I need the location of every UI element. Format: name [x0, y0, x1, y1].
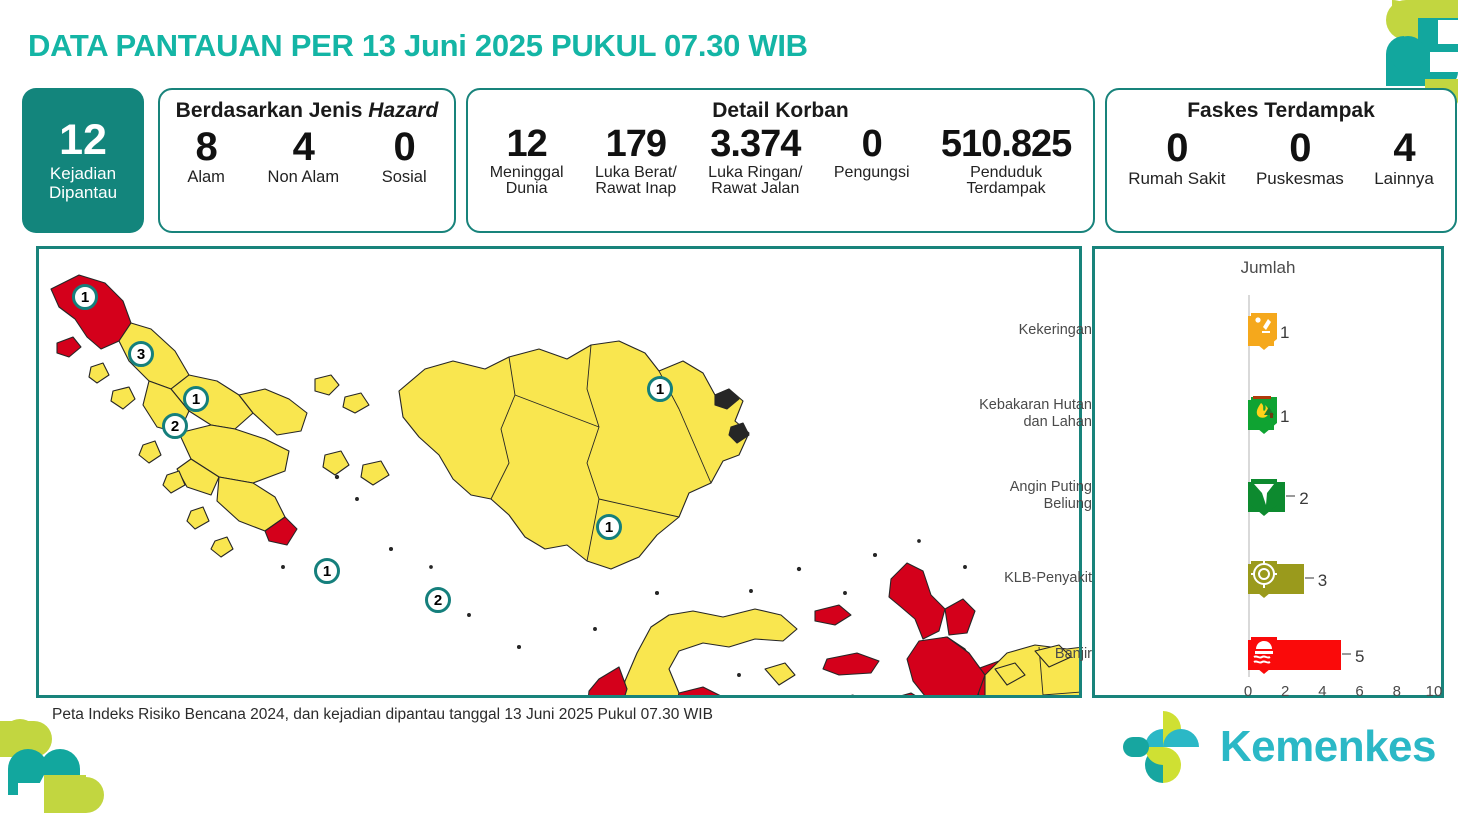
chart-value-label: 3 [1318, 572, 1327, 589]
chart-plot-area: Kekeringan1Kebakaran Hutan dan Lahan1Ang… [1095, 285, 1441, 695]
chart-category-label: KLB-Penyakit [792, 570, 1092, 587]
decoration-bottom-left [0, 713, 130, 813]
chart-category-label: Kekeringan [792, 322, 1092, 339]
indonesia-risk-map-panel[interactable]: 13121211 [36, 246, 1082, 698]
kejadian-dipantau-card: 12 Kejadian Dipantau [22, 88, 144, 233]
korban-metric-value: 0 [834, 125, 910, 164]
hazard-metrics: 8Alam4Non Alam0Sosial [160, 127, 454, 186]
chart-value-label: 5 [1355, 648, 1364, 665]
faskes-metric-label: Puskesmas [1256, 170, 1344, 187]
map-caption: Peta Indeks Risiko Bencana 2024, dan kej… [52, 706, 713, 724]
chart-category-label: Angin Puting Beliung [792, 479, 1092, 513]
disease-outbreak-icon [1249, 560, 1279, 598]
chart-category-label: Banjir [792, 646, 1092, 663]
map-marker[interactable]: 1 [72, 284, 98, 310]
kemenkes-wordmark: Kemenkes [1220, 722, 1436, 772]
chart-x-tick-label: 0 [1244, 683, 1252, 700]
faskes-metric-label: Lainnya [1374, 170, 1434, 187]
faskes-terdampak-card: Faskes Terdampak 0Rumah Sakit0Puskesmas4… [1105, 88, 1457, 233]
map-marker[interactable]: 1 [596, 514, 622, 540]
hazard-metric-label: Non Alam [268, 169, 340, 186]
chart-value-label: 2 [1299, 490, 1308, 507]
hazard-metric-value: 0 [382, 127, 427, 168]
korban-metrics: 12Meninggal Dunia179Luka Berat/ Rawat In… [468, 125, 1093, 197]
chart-bar-row: Banjir5 [1248, 633, 1438, 677]
hazard-metric: 8Alam [187, 127, 225, 186]
hazard-metric: 4Non Alam [268, 127, 340, 186]
indonesia-map [39, 249, 1079, 695]
hazard-type-card: Berdasarkan Jenis Hazard 8Alam4Non Alam0… [158, 88, 456, 233]
chart-x-tick-label: 8 [1393, 683, 1401, 700]
kejadian-label-line2: Dipantau [49, 183, 117, 202]
chart-value-tick [1305, 577, 1314, 579]
map-marker-count: 1 [314, 558, 340, 584]
faskes-card-title: Faskes Terdampak [1107, 99, 1455, 122]
faskes-metric: 0Puskesmas [1256, 128, 1344, 187]
korban-metric-value: 179 [595, 125, 677, 164]
kejadian-label-line1: Kejadian [50, 164, 116, 183]
hazard-metric-value: 4 [268, 127, 340, 168]
korban-metric-label: Luka Berat/ Rawat Inap [595, 165, 677, 198]
chart-bar-row: Angin Puting Beliung2 [1248, 475, 1438, 519]
hazard-metric-label: Sosial [382, 169, 427, 186]
map-marker-count: 3 [128, 341, 154, 367]
faskes-metric-value: 0 [1256, 128, 1344, 169]
map-marker[interactable]: 1 [183, 386, 209, 412]
korban-metric: 3.374Luka Ringan/ Rawat Jalan [708, 125, 802, 197]
map-marker-count: 2 [425, 587, 451, 613]
korban-metric-value: 12 [490, 125, 564, 164]
hazard-card-title: Berdasarkan Jenis Hazard [160, 99, 454, 122]
faskes-metric: 0Rumah Sakit [1128, 128, 1225, 187]
chart-value-tick [1286, 495, 1295, 497]
faskes-metric-value: 0 [1128, 128, 1225, 169]
faskes-metric-label: Rumah Sakit [1128, 170, 1225, 187]
korban-metric-value: 510.825 [941, 125, 1071, 164]
map-marker-count: 1 [183, 386, 209, 412]
map-marker-count: 2 [162, 413, 188, 439]
korban-metric: 510.825Penduduk Terdampak [941, 125, 1071, 197]
chart-value-label: 1 [1280, 408, 1289, 425]
chart-bar-row: KLB-Penyakit3 [1248, 557, 1438, 601]
map-marker-count: 1 [596, 514, 622, 540]
korban-metric-label: Luka Ringan/ Rawat Jalan [708, 165, 802, 198]
chart-x-tick-label: 6 [1355, 683, 1363, 700]
korban-metric-label: Penduduk Terdampak [941, 165, 1071, 198]
korban-metric-label: Pengungsi [834, 165, 910, 181]
hazard-metric-value: 8 [187, 127, 225, 168]
map-marker[interactable]: 1 [314, 558, 340, 584]
tornado-icon [1249, 478, 1279, 516]
map-marker[interactable]: 2 [162, 413, 188, 439]
korban-metric-value: 3.374 [708, 125, 802, 164]
chart-category-label: Kebakaran Hutan dan Lahan [792, 397, 1092, 431]
faskes-metric: 4Lainnya [1374, 128, 1434, 187]
korban-card-title: Detail Korban [468, 99, 1093, 122]
hazard-count-chart-panel: Jumlah Kekeringan1Kebakaran Hutan dan La… [1092, 246, 1444, 698]
kemenkes-logo-icon [1120, 707, 1206, 787]
chart-bar-row: Kekeringan1 [1248, 309, 1438, 353]
kemenkes-logo: Kemenkes [1120, 707, 1436, 787]
chart-bar-row: Kebakaran Hutan dan Lahan1 [1248, 393, 1438, 437]
chart-x-tick-label: 10 [1426, 683, 1443, 700]
korban-metric: 179Luka Berat/ Rawat Inap [595, 125, 677, 197]
flood-icon [1249, 636, 1279, 674]
kejadian-count: 12 [59, 119, 107, 162]
map-marker[interactable]: 3 [128, 341, 154, 367]
chart-x-tick-label: 2 [1281, 683, 1289, 700]
chart-value-label: 1 [1280, 324, 1289, 341]
detail-korban-card: Detail Korban 12Meninggal Dunia179Luka B… [466, 88, 1095, 233]
map-marker[interactable]: 1 [647, 376, 673, 402]
faskes-metric-value: 4 [1374, 128, 1434, 169]
chart-value-tick [1342, 653, 1351, 655]
map-marker-count: 1 [72, 284, 98, 310]
page-title: DATA PANTAUAN PER 13 Juni 2025 PUKUL 07.… [28, 28, 808, 64]
map-marker[interactable]: 2 [425, 587, 451, 613]
korban-metric: 0Pengungsi [834, 125, 910, 181]
drought-icon [1249, 312, 1279, 350]
forest-fire-icon [1249, 396, 1279, 434]
chart-x-tick-label: 4 [1318, 683, 1326, 700]
korban-metric: 12Meninggal Dunia [490, 125, 564, 197]
hazard-metric: 0Sosial [382, 127, 427, 186]
map-marker-count: 1 [647, 376, 673, 402]
korban-metric-label: Meninggal Dunia [490, 165, 564, 198]
chart-title: Jumlah [1095, 258, 1441, 278]
faskes-metrics: 0Rumah Sakit0Puskesmas4Lainnya [1107, 128, 1455, 187]
hazard-metric-label: Alam [187, 169, 225, 186]
